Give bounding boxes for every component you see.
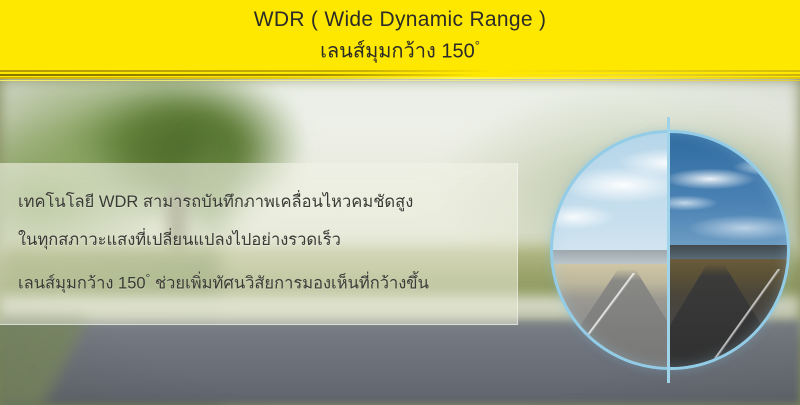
page-subtitle-degree: ° — [475, 38, 480, 53]
wdr-promo-banner: WDR ( Wide Dynamic Range ) เลนส์มุมกว้าง… — [0, 0, 800, 405]
comparison-half-wdr-off — [553, 133, 670, 367]
wdr-comparison-graphic — [545, 125, 795, 375]
description-line-3-part-a: เลนส์มุมกว้าง 150 — [18, 275, 146, 293]
header-band: WDR ( Wide Dynamic Range ) เลนส์มุมกว้าง… — [0, 0, 800, 78]
page-subtitle-text: เลนส์มุมกว้าง 150 — [320, 41, 475, 63]
page-title: WDR ( Wide Dynamic Range ) — [0, 0, 800, 30]
description-line-2: ในทุกสภาวะแสงที่เปลี่ยนแปลงไปอย่างรวดเร็… — [18, 221, 517, 259]
header-divider — [0, 70, 800, 82]
comparison-circle — [550, 130, 790, 370]
washed-lane-marking — [565, 273, 635, 367]
description-line-3-part-b: ช่วยเพิ่มทัศนวิสัยการมองเห็นที่กว้างขึ้น — [150, 275, 429, 293]
description-line-1: เทคโนโลยี WDR สามารถบันทึกภาพเคลื่อนไหวค… — [18, 183, 517, 221]
comparison-half-wdr-on — [670, 133, 787, 367]
rich-lane-marking — [710, 269, 780, 367]
divider-line-3 — [0, 77, 800, 79]
divider-line-4 — [0, 80, 800, 81]
comparison-split-divider — [667, 117, 670, 383]
description-line-3: เลนส์มุมกว้าง 150° ช่วยเพิ่มทัศนวิสัยการ… — [18, 259, 517, 303]
divider-line-2 — [0, 74, 800, 76]
divider-line-1 — [0, 70, 800, 72]
page-subtitle: เลนส์มุมกว้าง 150° — [0, 30, 800, 62]
description-panel: เทคโนโลยี WDR สามารถบันทึกภาพเคลื่อนไหวค… — [0, 163, 518, 325]
